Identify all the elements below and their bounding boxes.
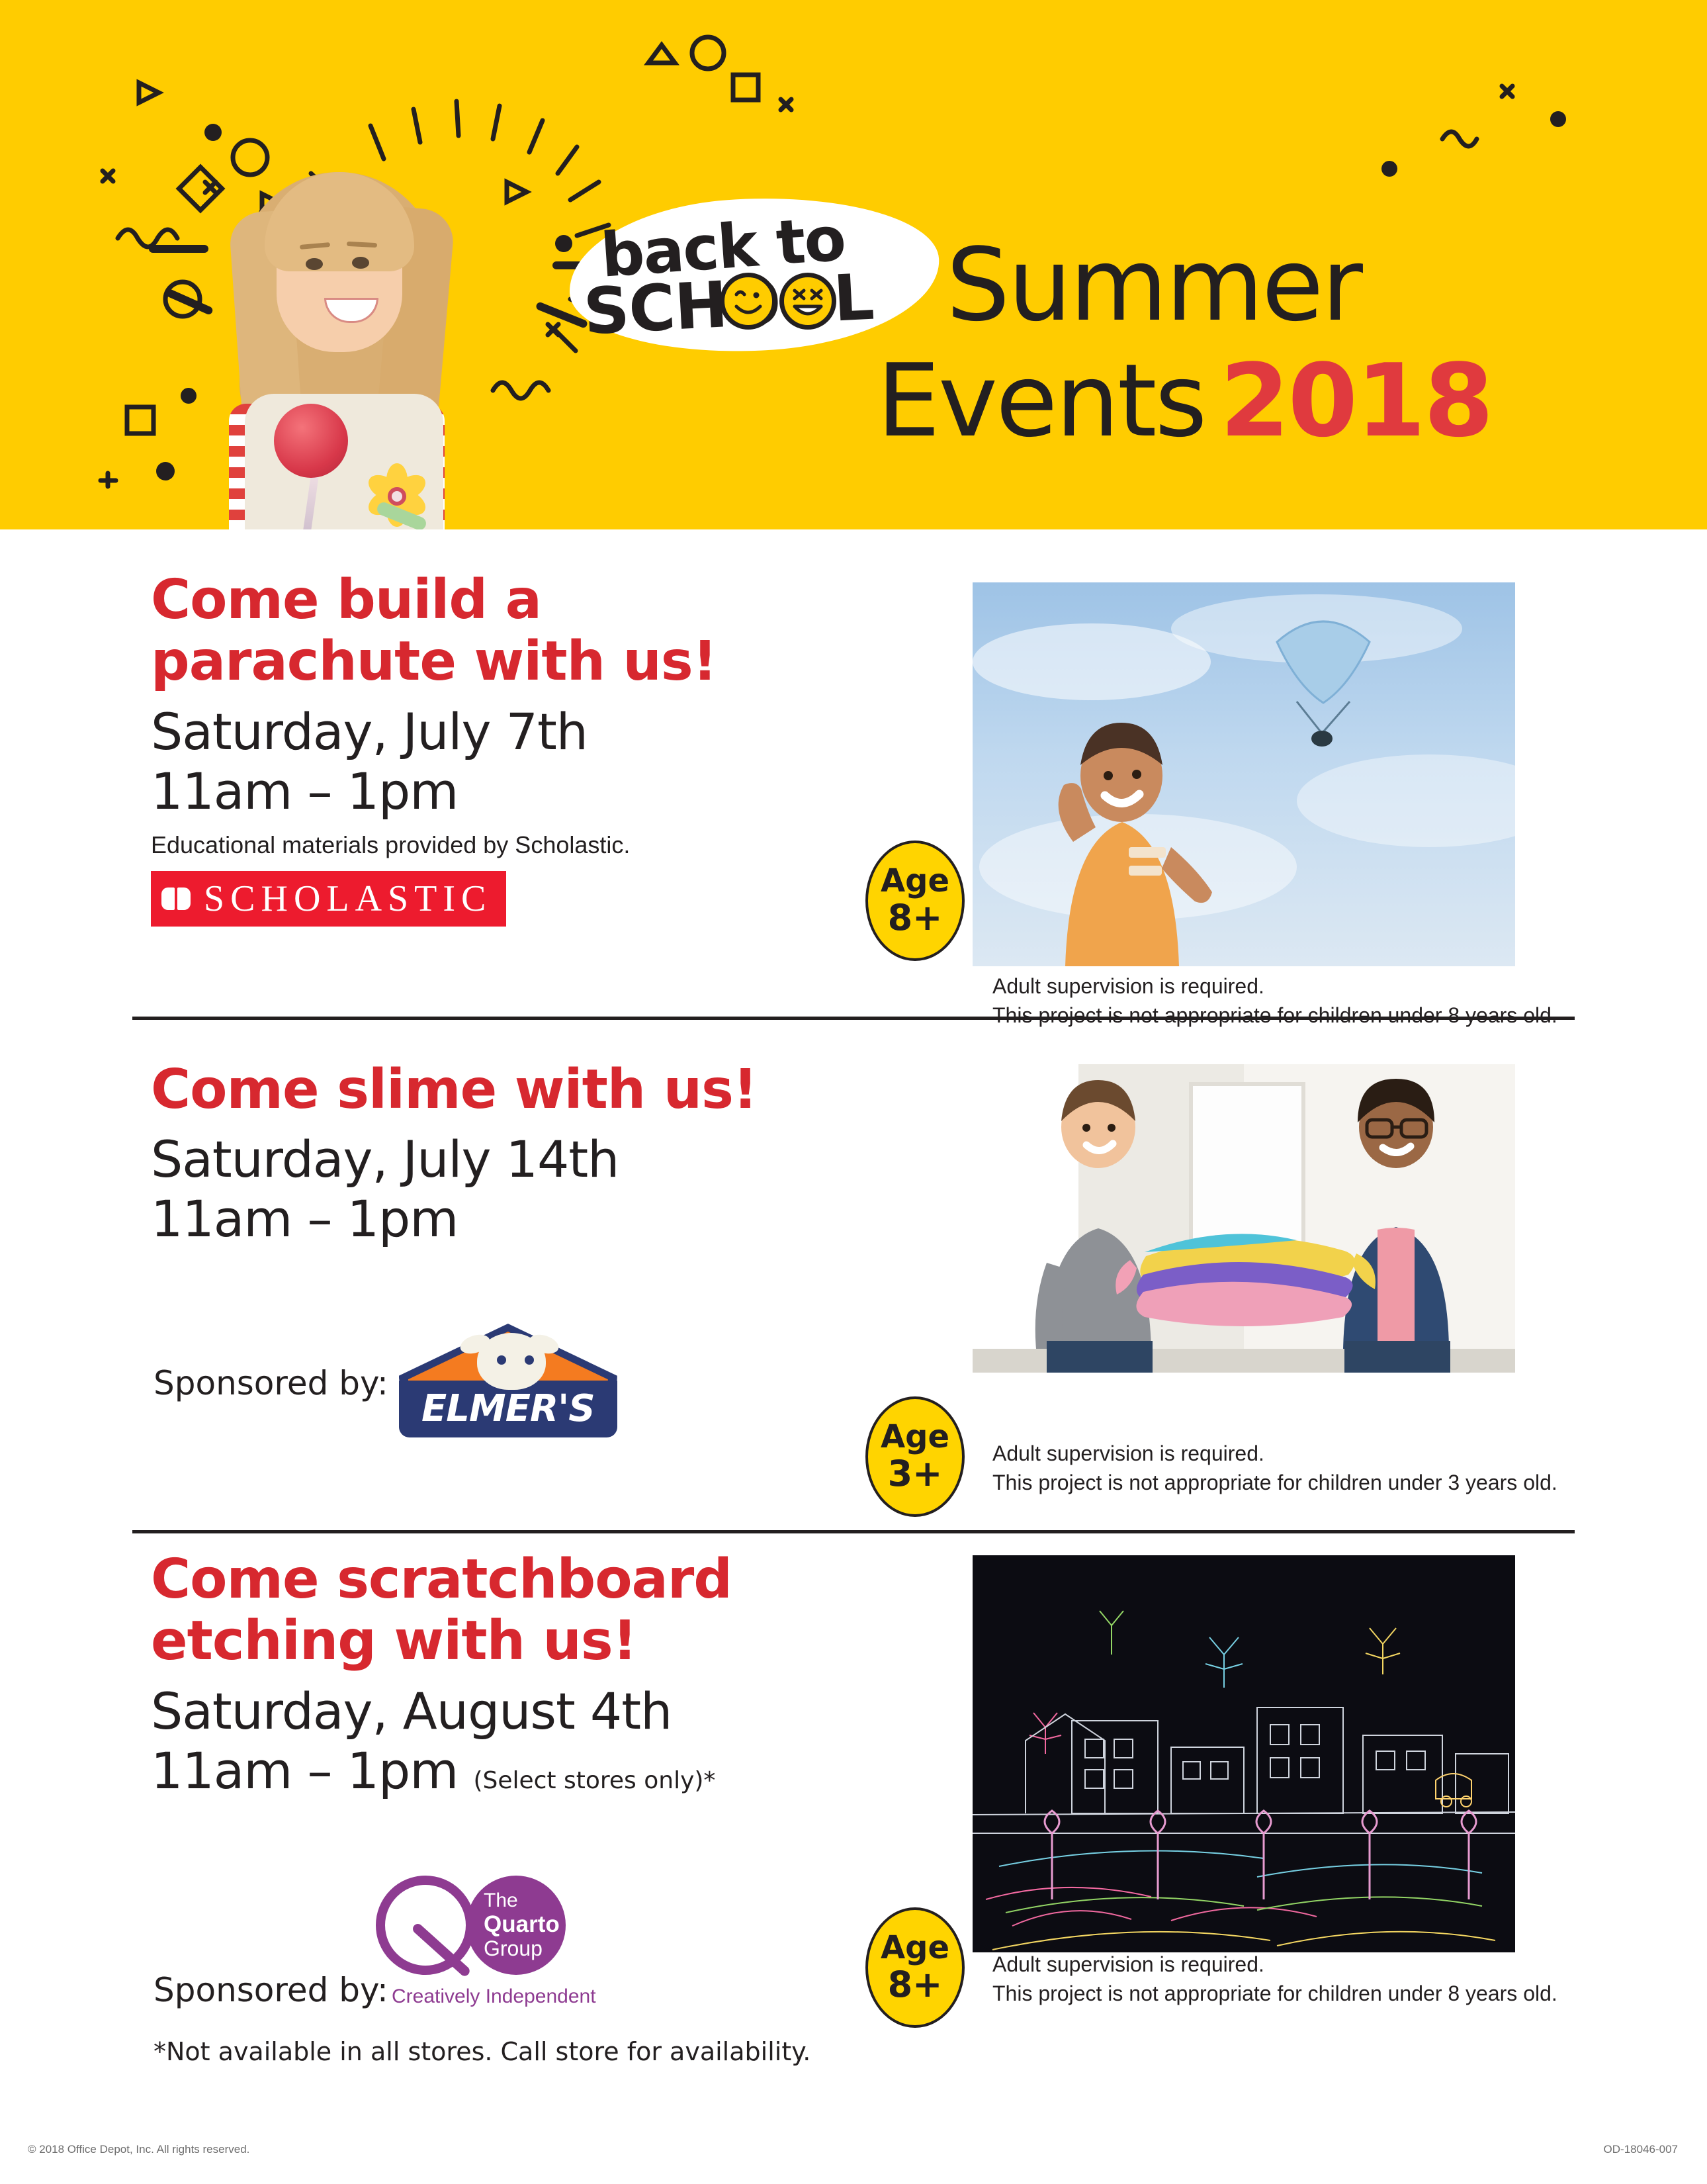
footer-code: OD-18046-007 (1604, 2143, 1678, 2156)
event-section-1: Come build a parachute with us! Saturday… (0, 569, 1707, 1019)
event-2-sponsor-row: Sponsored by: ELMER'S (153, 1324, 617, 1443)
student-photo (165, 93, 509, 529)
scholastic-wordmark: SCHOLASTIC (204, 878, 492, 920)
header-title-line1: Summer (946, 235, 1361, 336)
quarto-line-quarto: Quarto (484, 1911, 566, 1937)
event-1-title-line2: parachute with us! (151, 631, 879, 692)
header-title-events: Events (877, 342, 1205, 459)
event-1-supervision-line2: This project is not appropriate for chil… (992, 1001, 1557, 1030)
event-3-title: Come scratchboard etching with us! (151, 1549, 932, 1672)
event-3-time: 11am – 1pm (151, 1741, 458, 1800)
event-section-3: Come scratchboard etching with us! Satur… (0, 1549, 1707, 2078)
header-title-line2: Events2018 (877, 351, 1492, 451)
event-3-supervision: Adult supervision is required. This proj… (992, 1950, 1557, 2008)
header-banner: back to SCHOOL Summer Events2018 (0, 0, 1707, 529)
age-label: Age (881, 864, 949, 899)
quarto-line-the: The (484, 1889, 566, 1912)
event-1-age-badge: Age 8+ (865, 841, 965, 961)
elmers-bull-icon (477, 1333, 546, 1390)
open-book-icon (161, 887, 191, 910)
event-section-2: Come slime with us! Saturday, July 14th … (0, 1059, 1707, 1509)
event-2-supervision: Adult supervision is required. This proj… (992, 1439, 1557, 1497)
event-2-sponsor-label: Sponsored by: (153, 1364, 388, 1402)
event-1-supervision: Adult supervision is required. This proj… (992, 972, 1557, 1030)
smiley-laugh-icon (779, 273, 836, 330)
event-2-time: 11am – 1pm (151, 1189, 879, 1249)
footer-copyright: © 2018 Office Depot, Inc. All rights res… (28, 2143, 249, 2156)
event-3-sponsor-label: Sponsored by: (153, 1971, 388, 2009)
scholastic-logo: SCHOLASTIC (151, 871, 506, 927)
event-1-time: 11am – 1pm (151, 762, 879, 821)
age-value: 8+ (888, 899, 943, 937)
age-label: Age (881, 1931, 949, 1966)
event-1-supervision-line1: Adult supervision is required. (992, 972, 1557, 1001)
elmers-wordmark: ELMER'S (399, 1387, 617, 1430)
smiley-wink-icon (720, 273, 777, 330)
header-year: 2018 (1220, 342, 1492, 459)
event-3-title-line2: etching with us! (151, 1610, 932, 1672)
event-2-date: Saturday, July 14th (151, 1130, 879, 1189)
quarto-tagline: Creatively Independent (392, 1985, 596, 2008)
event-3-age-badge: Age 8+ (865, 1907, 965, 2028)
elmers-logo: ELMER'S (399, 1324, 617, 1443)
event-2-supervision-line2: This project is not appropriate for chil… (992, 1468, 1557, 1497)
section-divider-2 (132, 1530, 1575, 1533)
event-3-date: Saturday, August 4th (151, 1682, 932, 1741)
event-1-note: Educational materials provided by Schola… (151, 831, 879, 859)
event-1-photo (973, 582, 1515, 966)
event-2-supervision-line1: Adult supervision is required. (992, 1439, 1557, 1468)
event-2-age-badge: Age 3+ (865, 1396, 965, 1517)
event-3-footnote: *Not available in all stores. Call store… (153, 2037, 810, 2066)
event-3-time-suffix: (Select stores only)* (473, 1767, 715, 1794)
back-to-school-logo: back to SCHOOL (569, 199, 940, 351)
age-label: Age (881, 1420, 949, 1455)
event-3-time-row: 11am – 1pm (Select stores only)* (151, 1741, 932, 1801)
quarto-line-group: Group (484, 1937, 566, 1961)
event-1-title-line1: Come build a (151, 569, 879, 631)
age-value: 3+ (888, 1455, 943, 1493)
event-3-photo (973, 1555, 1515, 1952)
event-1-title: Come build a parachute with us! (151, 569, 879, 693)
quarto-wordmark: The Quarto Group (466, 1876, 566, 1975)
event-3-supervision-line1: Adult supervision is required. (992, 1950, 1557, 1979)
event-2-photo (973, 1064, 1515, 1435)
event-1-date: Saturday, July 7th (151, 702, 879, 762)
poster-page: back to SCHOOL Summer Events2018 (0, 0, 1707, 2184)
event-2-title: Come slime with us! (151, 1059, 879, 1120)
event-3-supervision-line2: This project is not appropriate for chil… (992, 1979, 1557, 2008)
section-divider-1 (132, 1017, 1575, 1020)
event-2-title-line1: Come slime with us! (151, 1059, 879, 1120)
quarto-group-logo: The Quarto Group (371, 1873, 569, 1979)
event-3-title-line1: Come scratchboard (151, 1549, 932, 1610)
age-value: 8+ (888, 1966, 943, 2004)
